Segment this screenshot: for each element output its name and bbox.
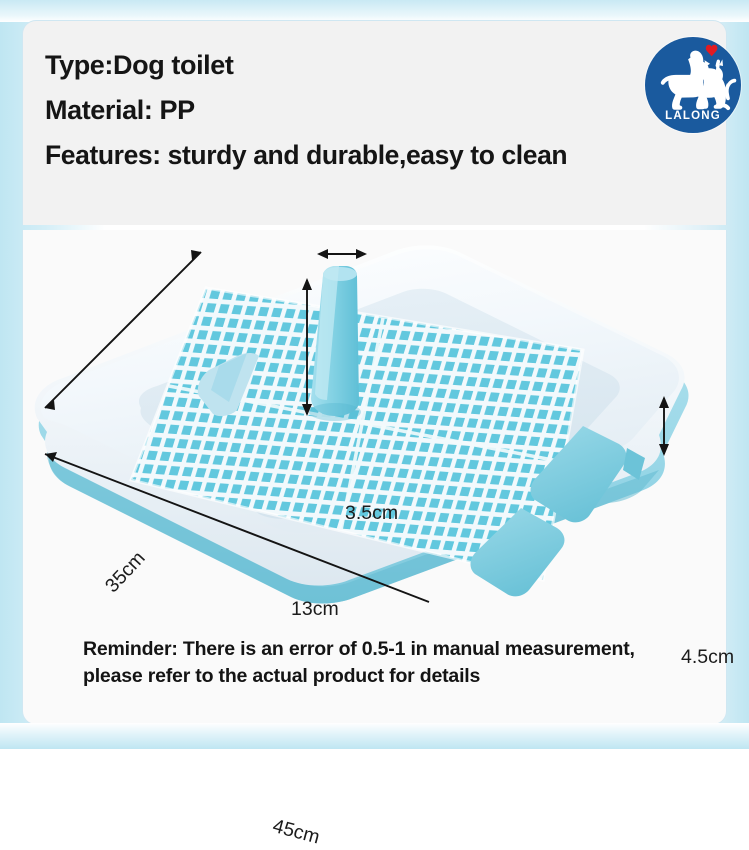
dimension-label-depth: 35cm bbox=[101, 547, 150, 598]
mesh-grid bbox=[113, 270, 613, 600]
header-panel: Type:Dog toilet Material: PP Features: s… bbox=[22, 20, 727, 225]
spec-list: Type:Dog toilet Material: PP Features: s… bbox=[45, 43, 645, 178]
reminder-text: Reminder: There is an error of 0.5-1 in … bbox=[83, 636, 686, 690]
dimension-label-post-height: 13cm bbox=[291, 598, 339, 621]
brand-logo: LALONG bbox=[645, 37, 741, 133]
dimension-arrows bbox=[45, 249, 669, 602]
training-post bbox=[309, 266, 361, 421]
infographic-root: Type:Dog toilet Material: PP Features: s… bbox=[0, 0, 749, 749]
dimension-label-width: 45cm bbox=[270, 815, 322, 850]
logo-wordmark: LALONG bbox=[645, 110, 741, 122]
spec-type: Type:Dog toilet bbox=[45, 43, 645, 88]
reminder-line-2: please refer to the actual product for d… bbox=[83, 663, 686, 690]
dimension-label-post-width: 3.5cm bbox=[345, 502, 398, 525]
spec-material: Material: PP bbox=[45, 88, 645, 133]
dimension-label-tray-height: 4.5cm bbox=[681, 646, 734, 669]
reminder-line-1: Reminder: There is an error of 0.5-1 in … bbox=[83, 636, 686, 663]
product-panel: 35cm 45cm 13cm 3.5cm 4.5cm Reminder: The… bbox=[22, 230, 727, 725]
spec-features: Features: sturdy and durable,easy to cle… bbox=[45, 133, 645, 178]
